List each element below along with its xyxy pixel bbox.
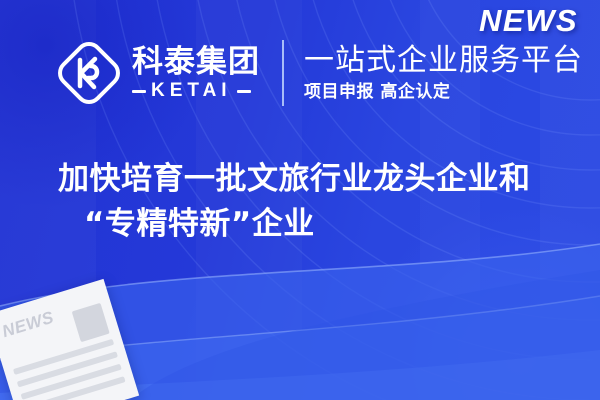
- brand-logo[interactable]: 科泰集团 KETAI: [58, 36, 260, 110]
- news-wordmark: NEWS: [479, 4, 578, 38]
- tagline-main: 一站式企业服务平台: [304, 43, 583, 79]
- banner-header: 科泰集团 KETAI 一站式企业服务平台 项目申报 高企认定: [0, 30, 600, 116]
- logo-dash-right: [237, 90, 251, 93]
- headline-line-2: “专精特新”企业: [58, 202, 558, 247]
- brand-name-cn: 科泰集团: [132, 45, 260, 79]
- brand-name-en: KETAI: [151, 81, 232, 101]
- page-title: 加快培育一批文旅行业龙头企业和 “专精特新”企业: [58, 157, 558, 247]
- headline-line-1: 加快培育一批文旅行业龙头企业和: [58, 157, 558, 202]
- tagline-sub: 项目申报 高企认定: [304, 81, 583, 103]
- news-banner: 科泰集团 KETAI 一站式企业服务平台 项目申报 高企认定 NEWS 加快培育…: [0, 0, 600, 400]
- newspaper-title: NEWS: [0, 308, 56, 343]
- tagline-block: 一站式企业服务平台 项目申报 高企认定: [304, 43, 583, 103]
- brand-wordmark: 科泰集团 KETAI: [132, 45, 260, 101]
- logo-dash-left: [132, 90, 146, 93]
- newspaper-thumbnail: [72, 303, 110, 342]
- newspaper-text-lines: [13, 339, 131, 400]
- header-divider: [282, 40, 284, 106]
- ketai-diamond-kp-logo-icon: [58, 42, 120, 104]
- brand-name-en-row: KETAI: [132, 81, 260, 101]
